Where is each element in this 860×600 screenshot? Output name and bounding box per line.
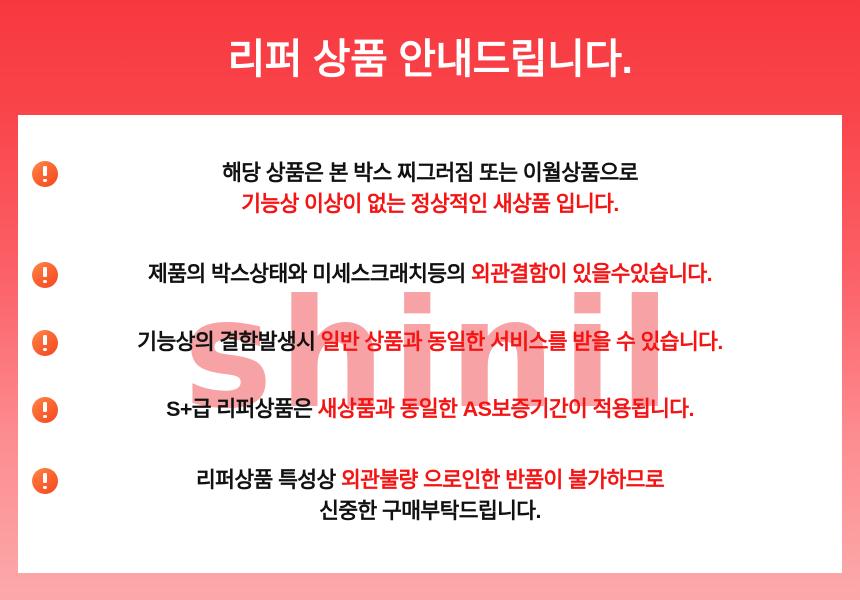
notice-content-panel: shinil 해당 상품은 본 박스 찌그러짐 또는 이월상품으로기능상 이상이… <box>18 115 842 573</box>
exclamation-circle-icon <box>32 330 58 356</box>
exclamation-circle-icon <box>32 161 58 187</box>
notice-row-text: 제품의 박스상태와 미세스크래치등의 외관결함이 있을수있습니다. <box>58 259 842 290</box>
notice-text-plain: 기능상의 결함발생시 <box>137 330 320 354</box>
notice-line: 제품의 박스상태와 미세스크래치등의 외관결함이 있을수있습니다. <box>58 259 802 290</box>
notice-line: 리퍼상품 특성상 외관불량 으로인한 반품이 불가하므로 <box>58 465 802 496</box>
notice-row-text: 리퍼상품 특성상 외관불량 으로인한 반품이 불가하므로신중한 구매부탁드립니다… <box>58 465 842 527</box>
refurbished-notice-banner: 리퍼 상품 안내드립니다. shinil 해당 상품은 본 박스 찌그러짐 또는… <box>0 0 860 600</box>
notice-text-highlight: 기능상 이상이 없는 정상적인 새상품 입니다. <box>241 192 618 216</box>
banner-header: 리퍼 상품 안내드립니다. <box>0 0 860 115</box>
notice-line: 기능상의 결함발생시 일반 상품과 동일한 서비스를 받을 수 있습니다. <box>58 327 802 358</box>
notice-text-highlight: 외관결함이 있을수있습니다. <box>471 262 712 286</box>
exclamation-circle-icon <box>32 262 58 288</box>
exclamation-circle-icon <box>32 468 58 494</box>
notice-row-text: S+급 리퍼상품은 새상품과 동일한 AS보증기간이 적용됩니다. <box>58 394 842 425</box>
notice-row-text: 해당 상품은 본 박스 찌그러짐 또는 이월상품으로기능상 이상이 없는 정상적… <box>58 158 842 220</box>
notice-text-plain: 제품의 박스상태와 미세스크래치등의 <box>148 262 471 286</box>
notice-row: S+급 리퍼상품은 새상품과 동일한 AS보증기간이 적용됩니다. <box>18 397 842 425</box>
notice-text-highlight: 일반 상품과 동일한 서비스를 받을 수 있습니다. <box>321 330 723 354</box>
page-title: 리퍼 상품 안내드립니다. <box>228 39 633 80</box>
notice-line: 신중한 구매부탁드립니다. <box>58 496 802 527</box>
notice-text-plain: S+급 리퍼상품은 <box>166 397 318 421</box>
notice-text-plain: 해당 상품은 본 박스 찌그러짐 또는 이월상품으로 <box>222 161 638 185</box>
notice-row: 기능상의 결함발생시 일반 상품과 동일한 서비스를 받을 수 있습니다. <box>18 330 842 358</box>
notice-row-text: 기능상의 결함발생시 일반 상품과 동일한 서비스를 받을 수 있습니다. <box>58 327 842 358</box>
notice-text-plain: 리퍼상품 특성상 <box>196 468 341 492</box>
notice-line: S+급 리퍼상품은 새상품과 동일한 AS보증기간이 적용됩니다. <box>58 394 802 425</box>
notice-line: 기능상 이상이 없는 정상적인 새상품 입니다. <box>58 189 802 220</box>
notice-text-highlight: 새상품과 동일한 AS보증기간이 적용됩니다. <box>318 397 694 421</box>
notice-row: 리퍼상품 특성상 외관불량 으로인한 반품이 불가하므로신중한 구매부탁드립니다… <box>18 468 842 527</box>
notice-line: 해당 상품은 본 박스 찌그러짐 또는 이월상품으로 <box>58 158 802 189</box>
exclamation-circle-icon <box>32 397 58 423</box>
notice-text-highlight: 외관불량 으로인한 반품이 불가하므로 <box>341 468 664 492</box>
notice-row: 해당 상품은 본 박스 찌그러짐 또는 이월상품으로기능상 이상이 없는 정상적… <box>18 161 842 220</box>
notice-text-plain: 신중한 구매부탁드립니다. <box>319 499 541 523</box>
notice-row: 제품의 박스상태와 미세스크래치등의 외관결함이 있을수있습니다. <box>18 262 842 290</box>
